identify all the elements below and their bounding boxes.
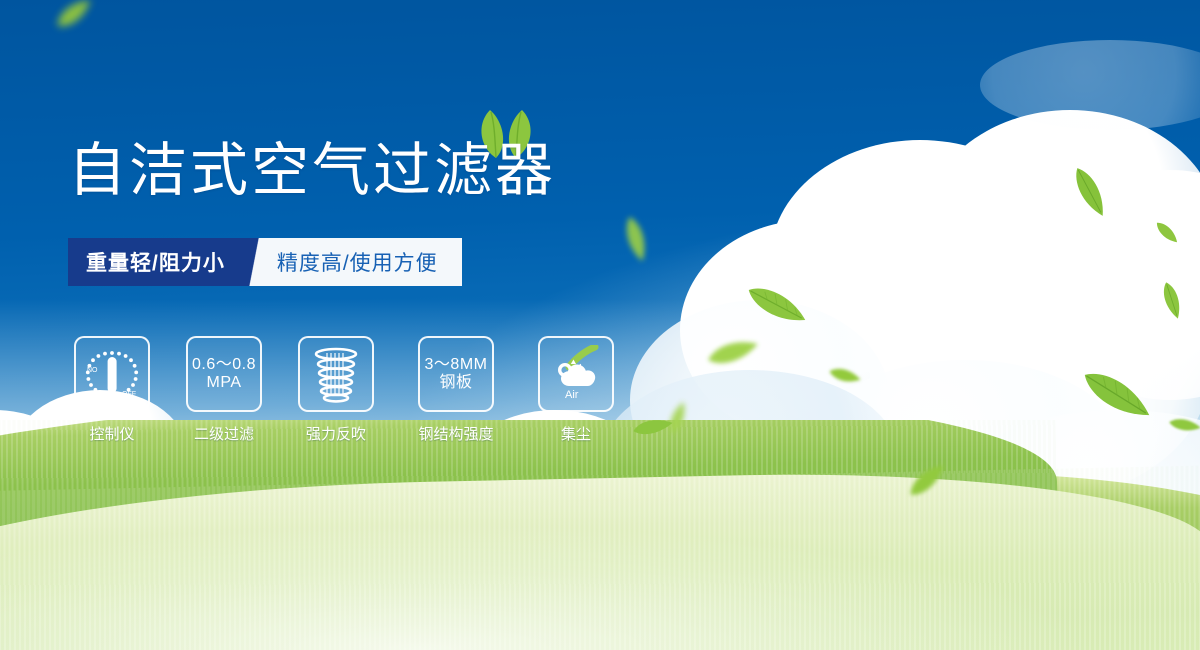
feature-icon-box: Air bbox=[538, 336, 614, 412]
feature-text-line1: 0.6～0.8 bbox=[192, 356, 256, 374]
feature-label: 二级过滤 bbox=[194, 423, 254, 444]
subtitle-divider bbox=[241, 238, 271, 286]
subtitle-left: 重量轻/阻力小 bbox=[68, 238, 241, 286]
feature-icon-box: 3～8MM 钢板 bbox=[418, 336, 494, 412]
page-title: 自洁式空气过滤器 bbox=[68, 142, 556, 200]
feature-text-line2: 钢板 bbox=[425, 374, 488, 392]
feature-item-dust-collection[interactable]: Air 集尘 bbox=[534, 336, 618, 444]
feature-icon-box bbox=[298, 336, 374, 412]
control-dial-icon: NO OFF bbox=[81, 346, 143, 402]
banner-content: 自洁式空气过滤器 重量轻/阻力小 精度高/使用方便 bbox=[0, 0, 760, 650]
subtitle-bar: 重量轻/阻力小 精度高/使用方便 bbox=[68, 238, 462, 286]
coil-filter-icon bbox=[309, 345, 363, 403]
feature-label: 控制仪 bbox=[89, 423, 134, 444]
feature-text-line1: 3～8MM bbox=[425, 356, 488, 374]
feature-item-steel-strength[interactable]: 3～8MM 钢板 钢结构强度 bbox=[406, 336, 506, 444]
pressure-value-icon: 0.6～0.8 MPA bbox=[192, 356, 256, 393]
feature-label: 钢结构强度 bbox=[418, 423, 493, 444]
dial-label-off: OFF bbox=[122, 391, 136, 398]
dial-label-no: NO bbox=[87, 367, 98, 374]
feature-item-two-stage-filter[interactable]: 0.6～0.8 MPA 二级过滤 bbox=[182, 336, 266, 444]
feature-label: 集尘 bbox=[561, 423, 591, 444]
feature-label: 强力反吹 bbox=[306, 423, 366, 444]
feature-text-line2: MPA bbox=[192, 374, 256, 392]
product-banner: 自洁式空气过滤器 重量轻/阻力小 精度高/使用方便 bbox=[0, 0, 1200, 650]
feature-item-back-blow[interactable]: 强力反吹 bbox=[294, 336, 378, 444]
feature-list: NO OFF 控制仪 0.6～0.8 MPA 二级过滤 bbox=[70, 336, 618, 444]
air-caption: Air bbox=[565, 389, 579, 401]
steel-plate-icon: 3～8MM 钢板 bbox=[425, 356, 488, 393]
cloud-air-icon: Air bbox=[545, 345, 607, 403]
subtitle-right: 精度高/使用方便 bbox=[271, 238, 462, 286]
feature-icon-box: NO OFF bbox=[74, 336, 150, 412]
feature-item-control-dial[interactable]: NO OFF 控制仪 bbox=[70, 336, 154, 444]
feature-icon-box: 0.6～0.8 MPA bbox=[186, 336, 262, 412]
